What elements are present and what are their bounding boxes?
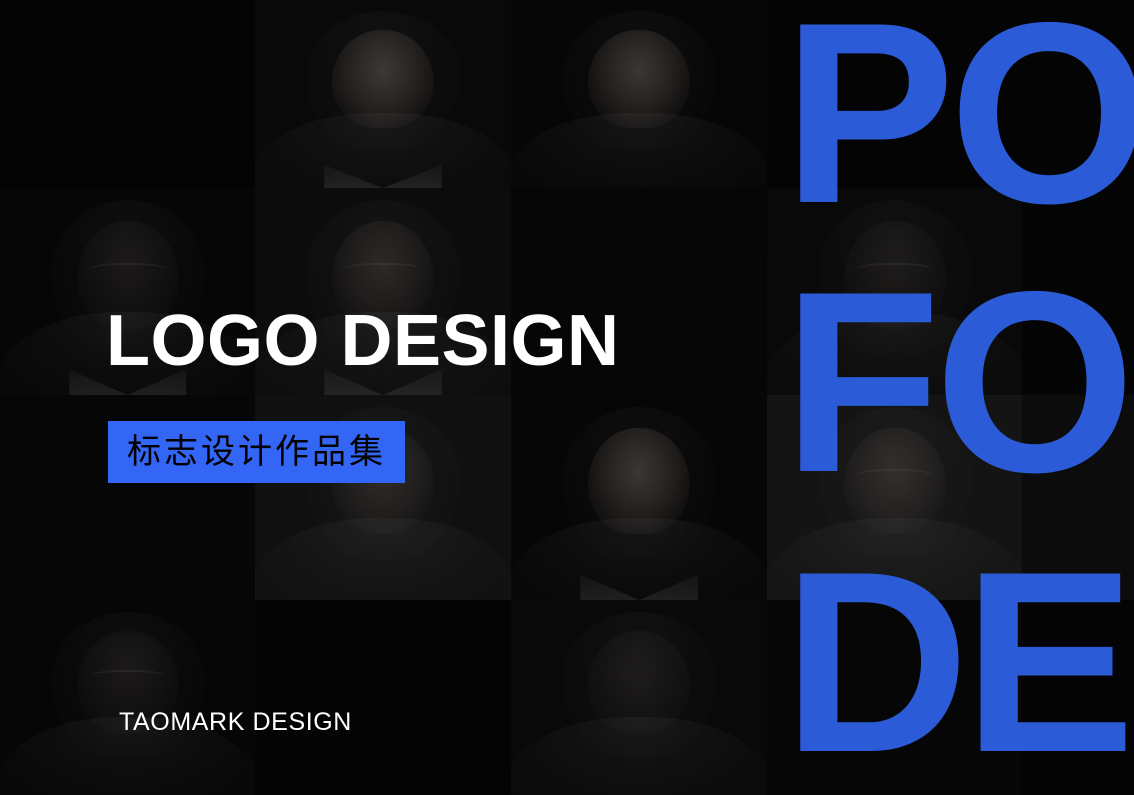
grid-cell-portrait (511, 0, 767, 188)
portrait-face (511, 395, 767, 600)
grid-cell-portrait (255, 0, 511, 188)
studio-name-label: TAOMARK DESIGN (119, 707, 352, 737)
glasses-icon (345, 263, 422, 279)
grid-cell-empty (1022, 0, 1134, 188)
grid-cell-portrait (767, 188, 1022, 395)
portrait-face (511, 0, 767, 188)
grid-cell-empty (1022, 395, 1134, 600)
portrait-face (0, 600, 255, 795)
portrait-face (767, 395, 1022, 600)
page-title: LOGO DESIGN (106, 305, 620, 377)
subtitle-badge: 标志设计作品集 (108, 421, 405, 483)
grid-cell-empty (1022, 600, 1134, 795)
grid-cell-empty (255, 600, 511, 795)
grid-cell-empty (767, 600, 1022, 795)
grid-cell-portrait (0, 600, 255, 795)
grid-cell-portrait (767, 395, 1022, 600)
grid-cell-empty (1022, 188, 1134, 395)
glasses-icon (856, 469, 933, 485)
photo-mosaic-grid (0, 0, 1134, 795)
subtitle-label: 标志设计作品集 (127, 435, 386, 469)
glasses-icon (89, 670, 166, 686)
grid-cell-empty (767, 0, 1022, 188)
grid-cell-portrait (511, 600, 767, 795)
portrait-face (767, 188, 1022, 395)
portrait-face (255, 0, 511, 188)
grid-cell-empty (0, 0, 255, 188)
glasses-icon (856, 263, 933, 279)
grid-cell-portrait (511, 395, 767, 600)
poster-canvas: PO FO DE LOGO DESIGN 标志设计作品集 TAOMARK DES… (0, 0, 1134, 795)
portrait-face (511, 600, 767, 795)
glasses-icon (89, 263, 166, 279)
